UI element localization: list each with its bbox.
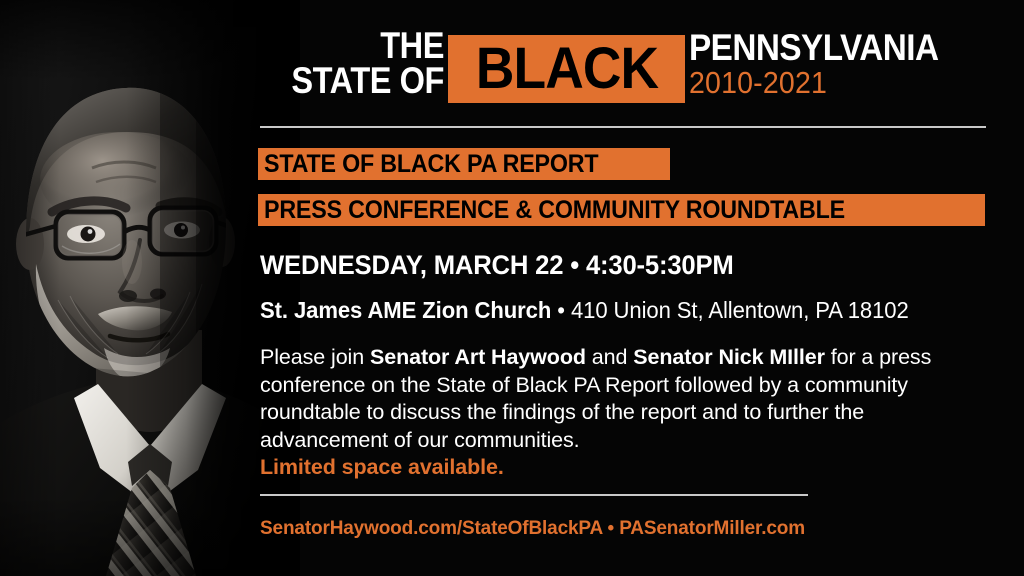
title-bar-event-type: PRESS CONFERENCE & COMMUNITY ROUNDTABLE xyxy=(258,194,985,226)
venue-name: St. James AME Zion Church xyxy=(260,297,551,323)
venue-separator: • xyxy=(551,297,571,323)
masthead-the-state-of: THE STATE OF xyxy=(280,28,444,98)
title-bar-report: STATE OF BLACK PA REPORT xyxy=(258,148,670,180)
description-conjunction: and xyxy=(586,345,633,369)
title-bar-report-label: STATE OF BLACK PA REPORT xyxy=(264,150,598,179)
masthead-the: THE xyxy=(280,28,444,63)
description-intro: Please join xyxy=(260,345,370,369)
event-venue: St. James AME Zion Church • 410 Union St… xyxy=(260,297,909,323)
footer-links: SenatorHaywood.com/StateOfBlackPA • PASe… xyxy=(260,518,805,540)
masthead-right: PENNSYLVANIA 2010-2021 xyxy=(689,30,989,99)
speaker-two-name: Senator Nick MIller xyxy=(633,345,825,369)
limited-space-notice: Limited space available. xyxy=(260,454,504,480)
masthead-black-word: BLACK xyxy=(474,40,660,98)
masthead: THE STATE OF BLACK PENNSYLVANIA 2010-202… xyxy=(258,26,988,108)
content-column: THE STATE OF BLACK PENNSYLVANIA 2010-202… xyxy=(258,0,1024,576)
divider-top xyxy=(260,126,986,128)
divider-bottom xyxy=(260,494,808,496)
venue-address: 410 Union St, Allentown, PA 18102 xyxy=(571,297,909,323)
event-flyer: THE STATE OF BLACK PENNSYLVANIA 2010-202… xyxy=(0,0,1024,576)
masthead-state-of: STATE OF xyxy=(280,63,444,98)
event-description: Please join Senator Art Haywood and Sena… xyxy=(260,344,984,454)
portrait-illustration xyxy=(0,0,300,576)
masthead-row: THE STATE OF BLACK PENNSYLVANIA 2010-202… xyxy=(258,26,988,108)
speaker-one-name: Senator Art Haywood xyxy=(370,345,586,369)
footer-link-haywood[interactable]: SenatorHaywood.com/StateOfBlackPA xyxy=(260,518,602,539)
masthead-pennsylvania: PENNSYLVANIA xyxy=(689,30,959,66)
footer-link-miller[interactable]: PASenatorMiller.com xyxy=(619,518,805,539)
footer-link-separator: • xyxy=(602,518,619,539)
event-date-time: WEDNESDAY, MARCH 22 • 4:30-5:30PM xyxy=(260,250,734,280)
speaker-portrait xyxy=(0,0,300,576)
masthead-year-range: 2010-2021 xyxy=(689,67,965,99)
masthead-black-highlight: BLACK xyxy=(448,35,685,103)
title-bar-event-type-label: PRESS CONFERENCE & COMMUNITY ROUNDTABLE xyxy=(264,196,845,225)
